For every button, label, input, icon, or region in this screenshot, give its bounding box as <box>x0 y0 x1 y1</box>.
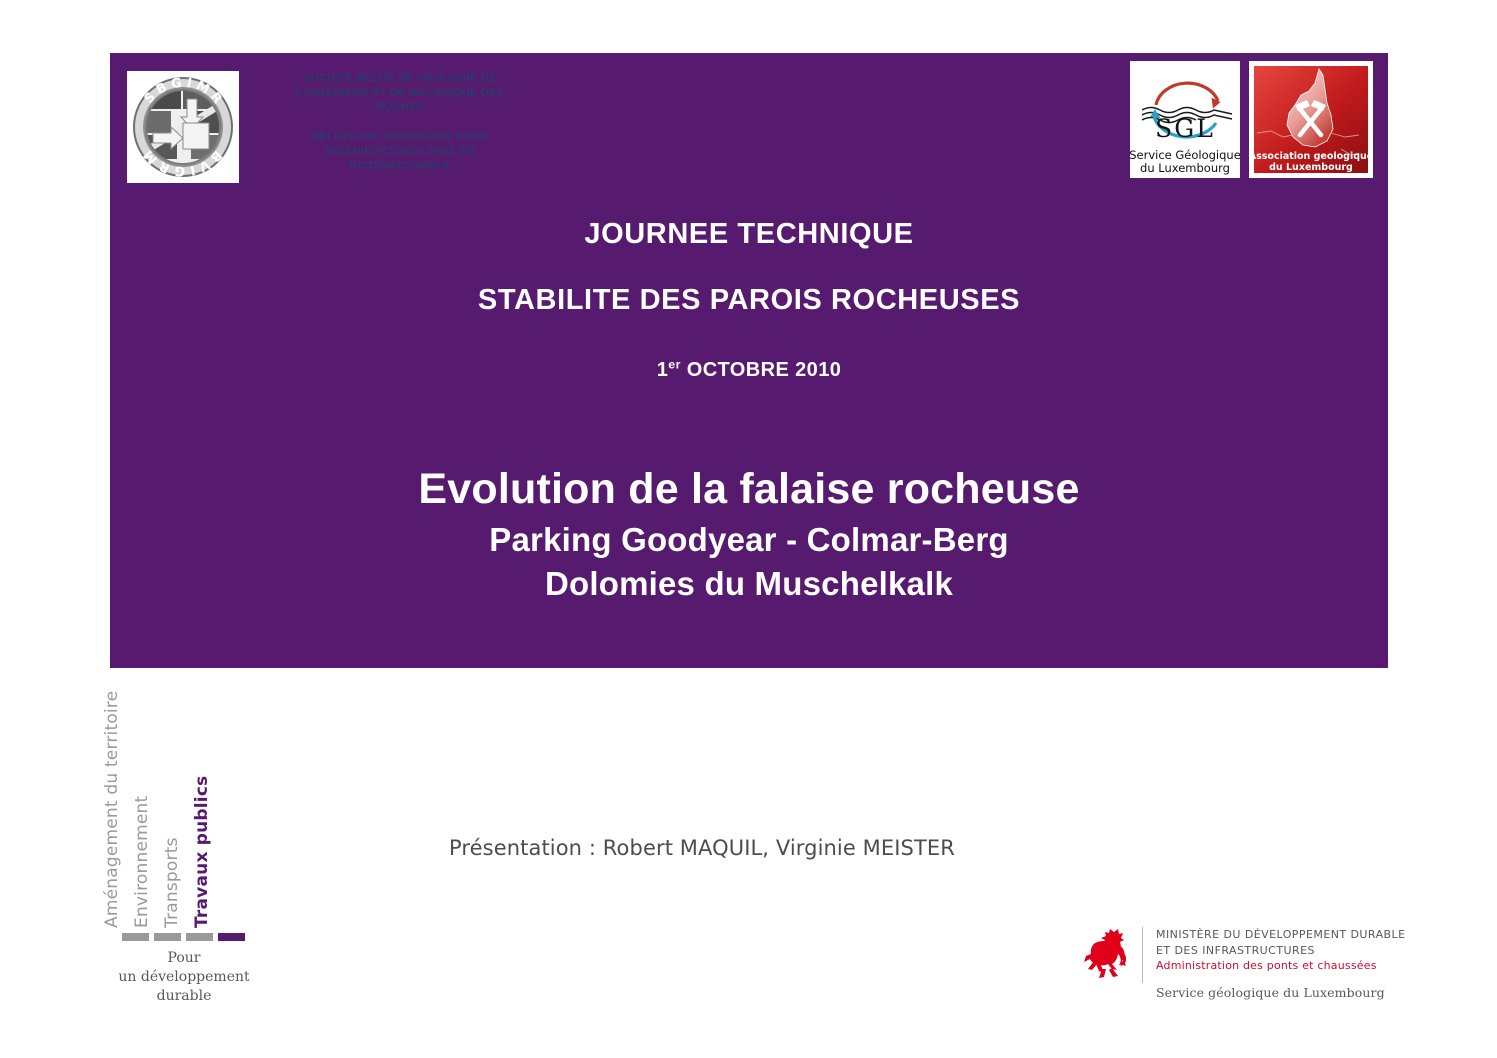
agl-caption-line1: Association geologique <box>1253 151 1369 162</box>
ministry-bar-1 <box>122 933 149 941</box>
ministry-line2: ET DES INFRASTRUCTURES <box>1156 943 1406 959</box>
society-name-block: SOCIETE BELGE DE GEOLOGIE DE L'INGENIEUR… <box>250 71 550 173</box>
event-title-line2: STABILITE DES PAROIS ROCHEUSES <box>110 284 1388 317</box>
lion-rampant-svg <box>1080 925 1132 983</box>
event-date-number: 1 <box>657 359 669 381</box>
ministry-bar-accent <box>218 933 245 941</box>
presenter-line: Présentation : Robert MAQUIL, Virginie M… <box>449 836 955 860</box>
sbgimr-circular-emblem-icon: SBGIMR BVIGRM <box>131 75 235 179</box>
ministry-column-bars <box>122 933 246 941</box>
event-date-ordinal: er <box>668 357 681 371</box>
ministry-text-block: MINISTÈRE DU DÉVELOPPEMENT DURABLE ET DE… <box>1156 927 1406 975</box>
ministry-vertical-caption: Pour un développement durable <box>106 949 262 1006</box>
sgl-water-cycle-icon: SGL Service Géologique du Luxembourg <box>1130 61 1240 178</box>
ministry-line1: MINISTÈRE DU DÉVELOPPEMENT DURABLE <box>1156 927 1406 943</box>
society-fr-line3: ROCHES <box>250 100 550 115</box>
association-geologique-logo: Association geologique du Luxembourg <box>1249 61 1373 178</box>
presentation-title-line2: Parking Goodyear - Colmar-Berg <box>110 521 1388 559</box>
society-fr-line2: L'INGENIEUR ET DE MECANIQUE DES <box>250 86 550 101</box>
ministry-caption-line3: durable <box>106 987 262 1006</box>
presentation-title-line3: Dolomies du Muschelkalk <box>110 565 1388 603</box>
event-heading-block: JOURNEE TECHNIQUE STABILITE DES PAROIS R… <box>110 218 1388 382</box>
ministry-column-label-4: Travaux publics <box>192 776 212 928</box>
presentation-title-block: Evolution de la falaise rocheuse Parking… <box>110 465 1388 603</box>
ministry-bar-2 <box>154 933 181 941</box>
svg-text:SGL: SGL <box>1155 114 1215 143</box>
agl-caption-line2: du Luxembourg <box>1269 162 1353 173</box>
society-fr-line1: SOCIETE BELGE DE GEOLOGIE DE <box>250 71 550 86</box>
society-nl-line2: INGENIEURSGEOLOGIE EN <box>250 144 550 159</box>
ministry-column-label-1: Aménagement du territoire <box>102 691 122 928</box>
ministry-service-line: Service géologique du Luxembourg <box>1156 985 1385 1000</box>
sgl-caption-line2: du Luxembourg <box>1140 161 1230 175</box>
ministry-caption-line2: un développement <box>106 968 262 987</box>
luxembourg-red-lion-icon <box>1080 925 1132 983</box>
society-nl-line1: BELGISCHE VERENIGING VOOR <box>250 130 550 145</box>
luxembourg-map-hammers-icon: Association geologique du Luxembourg <box>1253 65 1369 174</box>
ministry-line3: Administration des ponts et chaussées <box>1156 958 1406 975</box>
sgl-logo: SGL Service Géologique du Luxembourg <box>1130 61 1240 178</box>
ministry-column-travaux-publics: Travaux publics <box>212 683 242 928</box>
sgl-caption-line1: Service Géologique <box>1130 148 1240 162</box>
ministry-column-label-3: Transports <box>162 837 182 928</box>
event-date-rest: OCTOBRE 2010 <box>681 359 841 381</box>
ministry-vertical-logo: Aménagement du territoire Environnement … <box>122 683 262 1003</box>
ministry-bar-3 <box>186 933 213 941</box>
event-title-line1: JOURNEE TECHNIQUE <box>110 218 1388 251</box>
presentation-title-line1: Evolution de la falaise rocheuse <box>110 465 1388 514</box>
event-date: 1er OCTOBRE 2010 <box>110 359 1388 382</box>
sbgimr-emblem-logo: SBGIMR BVIGRM <box>127 71 239 183</box>
ministry-vertical-columns: Aménagement du territoire Environnement … <box>122 683 262 928</box>
society-nl-line3: ROTSMECHANICA <box>250 159 550 174</box>
title-panel: SBGIMR BVIGRM SOCIETE BELGE DE GEOLOGIE … <box>110 53 1388 668</box>
ministry-column-label-2: Environnement <box>132 796 152 928</box>
ministry-footer-logo: MINISTÈRE DU DÉVELOPPEMENT DURABLE ET DE… <box>1080 925 1400 1010</box>
ministry-divider <box>1142 927 1143 983</box>
ministry-caption-line1: Pour <box>106 949 262 968</box>
